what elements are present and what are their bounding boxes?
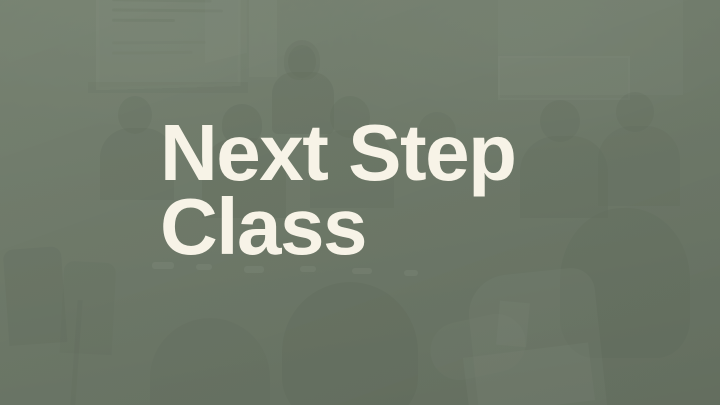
- headline-line-1: Next Step: [160, 116, 630, 190]
- headline-line-2: Class: [160, 190, 630, 264]
- headline-block: Next Step Class: [160, 116, 630, 264]
- promo-banner: Next Step Class: [0, 0, 720, 405]
